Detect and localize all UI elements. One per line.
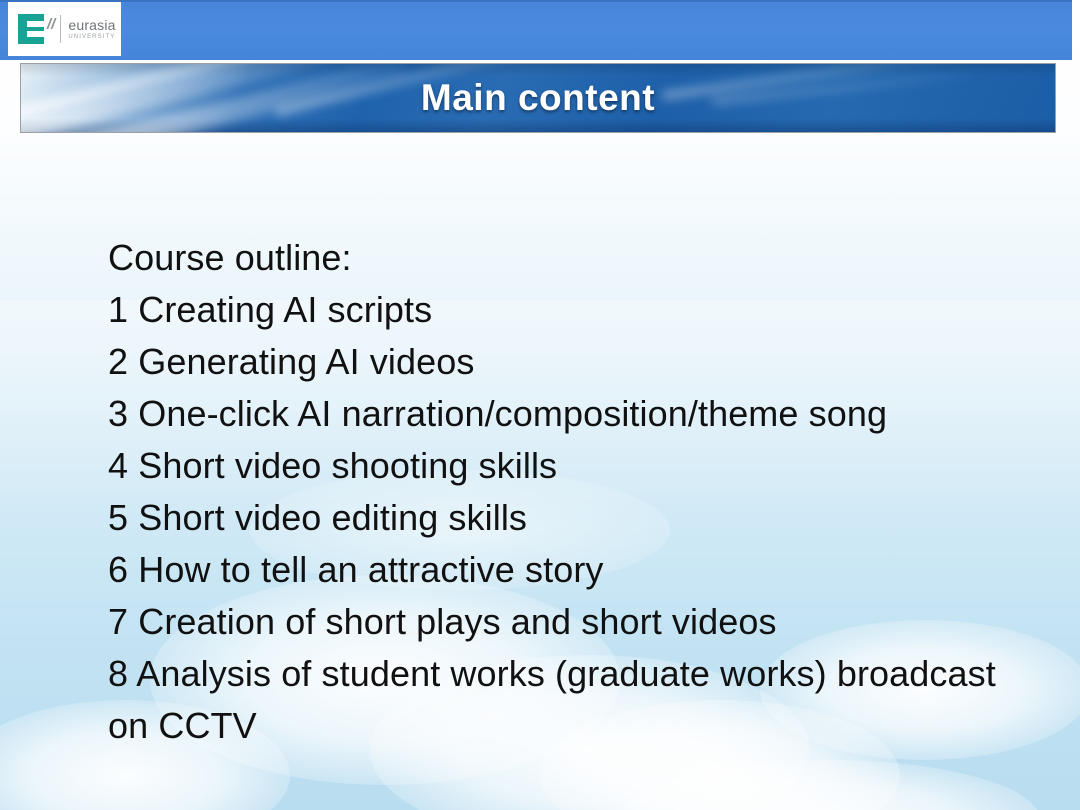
banner-cloud-streak: [20, 63, 407, 133]
outline-heading: Course outline:: [108, 232, 1028, 284]
outline-item-8: 8 Analysis of student works (graduate wo…: [108, 648, 1028, 752]
logo-wordmark: eurasia UNIVERSITY: [68, 18, 115, 40]
logo-divider: [60, 15, 61, 43]
outline-item-7: 7 Creation of short plays and short vide…: [108, 596, 1028, 648]
outline-item-5: 5 Short video editing skills: [108, 492, 1028, 544]
course-outline-block: Course outline: 1 Creating AI scripts 2 …: [108, 232, 1028, 752]
banner-cloud-streak: [20, 63, 337, 133]
banner-cloud-streak: [662, 63, 960, 101]
logo-slashes-icon: //: [47, 17, 55, 32]
logo-subtitle-text: UNIVERSITY: [68, 34, 115, 40]
banner-cloud-streak: [711, 70, 970, 105]
outline-item-6: 6 How to tell an attractive story: [108, 544, 1028, 596]
slide: // eurasia UNIVERSITY Main content Cours…: [0, 0, 1080, 810]
banner-cloud-streak: [20, 63, 386, 132]
outline-item-2: 2 Generating AI videos: [108, 336, 1028, 388]
logo-name-text: eurasia: [68, 18, 115, 32]
top-header-bar: [0, 0, 1072, 60]
outline-item-3: 3 One-click AI narration/composition/the…: [108, 388, 1028, 440]
slide-title: Main content: [421, 77, 655, 119]
outline-item-4: 4 Short video shooting skills: [108, 440, 1028, 492]
outline-item-1: 1 Creating AI scripts: [108, 284, 1028, 336]
logo-e-mark-icon: [18, 14, 44, 44]
cloud-shape: [620, 760, 1040, 810]
eurasia-university-logo: // eurasia UNIVERSITY: [8, 2, 121, 56]
title-banner: Main content: [20, 63, 1056, 133]
